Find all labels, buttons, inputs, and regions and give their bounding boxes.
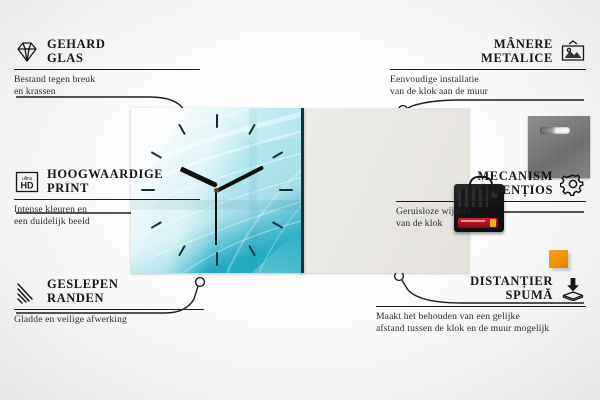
wall-mount-picture-icon (560, 40, 586, 64)
ultra-hd-icon: ultra HD (14, 170, 40, 194)
clock-second-hand (215, 191, 217, 245)
tick-4 (272, 221, 283, 229)
callout-body: Eenvoudige installatie van de klok aan d… (390, 74, 586, 97)
tick-5 (248, 245, 256, 256)
svg-text:HD: HD (21, 180, 34, 190)
tick-10 (151, 151, 162, 159)
tick-1 (248, 124, 256, 135)
tick-12 (216, 114, 218, 128)
infographic-stage: GEHARD GLAS Bestand tegen breuk en krass… (0, 0, 600, 400)
callout-gehard-glas: GEHARD GLAS Bestand tegen breuk en krass… (14, 38, 200, 97)
callout-title: DISTANȚIER SPUMĂ (470, 275, 553, 302)
callout-title: GEHARD GLAS (47, 38, 105, 65)
hanger-keyhole-slot (540, 127, 570, 134)
callout-mecanism-silentios: MECANISM SILENȚIOS Geruisloze wijzers va… (396, 170, 586, 229)
clock-center-cap (214, 188, 219, 193)
callout-body: Maakt het behouden van een gelijke afsta… (376, 311, 586, 334)
callout-rule (396, 201, 586, 202)
tick-7 (178, 245, 186, 256)
callout-rule (376, 306, 586, 307)
spacer-arrow-icon (560, 277, 586, 301)
tick-11 (178, 124, 186, 135)
callout-rule (14, 309, 204, 310)
callout-body: Bestand tegen breuk en krassen (14, 74, 200, 97)
callout-rule (14, 69, 200, 70)
callout-rule (14, 199, 200, 200)
callout-title: MECANISM SILENȚIOS (477, 170, 553, 197)
diamond-icon (14, 40, 40, 64)
callout-geslepen-randen: GESLEPEN RANDEN Gladde en veilige afwerk… (14, 278, 204, 326)
callout-hoogwaardige-print: ultra HD HOOGWAARDIGE PRINT Intense kleu… (14, 168, 200, 227)
clock-minute-hand (216, 165, 264, 192)
callout-body: Gladde en veilige afwerking (14, 314, 204, 326)
callout-body: Intense kleuren en een duidelijk beeld (14, 204, 200, 227)
tick-6 (216, 252, 218, 266)
tick-3 (279, 189, 293, 191)
callout-rule (390, 69, 586, 70)
tick-2 (272, 151, 283, 159)
gear-icon (560, 172, 586, 196)
callout-title: GESLEPEN RANDEN (47, 278, 119, 305)
callout-body: Geruisloze wijzers van de klok (396, 206, 586, 229)
callout-title: HOOGWAARDIGE PRINT (47, 168, 163, 195)
callout-title: MÂNERE METALICE (481, 38, 553, 65)
callout-manere-metalice: MÂNERE METALICE Eenvoudige installatie v… (390, 38, 586, 97)
orange-foam-spacer (549, 250, 568, 268)
callout-distantier-spuma: DISTANȚIER SPUMĂ Maakt het behouden van … (376, 275, 586, 334)
beveled-edges-icon (14, 280, 40, 304)
